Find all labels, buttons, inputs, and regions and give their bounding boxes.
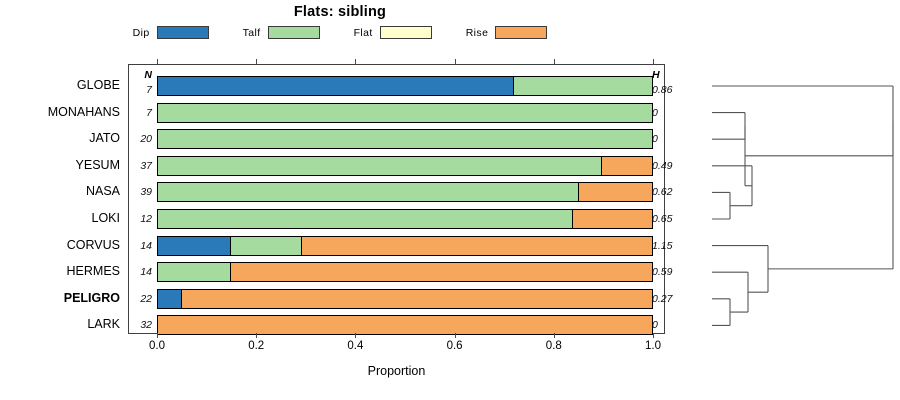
category-label-loki: LOKI — [0, 211, 128, 225]
category-label-yesum: YESUM — [0, 158, 128, 172]
n-column-header: N — [129, 69, 157, 81]
legend-item-flat: Flat — [354, 26, 432, 39]
dendrogram — [690, 56, 900, 346]
legend-item-dip: Dip — [133, 26, 209, 39]
n-value-jato: 20 — [129, 133, 157, 145]
x-axis-tick-labels: 0.00.20.40.60.81.0 — [128, 337, 665, 355]
legend-label: Rise — [466, 27, 489, 39]
legend-item-rise: Rise — [466, 26, 548, 39]
n-value-yesum: 37 — [129, 160, 157, 172]
x-tick-label: 0.4 — [335, 340, 375, 352]
h-value-peligro: 0.27 — [645, 293, 685, 305]
n-value-globe: 7 — [129, 84, 157, 96]
h-value-loki: 0.65 — [645, 213, 685, 225]
h-value-yesum: 0.49 — [645, 160, 685, 172]
category-label-corvus: CORVUS — [0, 238, 128, 252]
legend-item-talf: Talf — [243, 26, 320, 39]
x-tick — [355, 333, 356, 338]
top-tick — [256, 59, 257, 64]
legend-swatch-dip — [157, 26, 209, 39]
h-value-globe: 0.86 — [645, 84, 685, 96]
legend-swatch-rise — [495, 26, 547, 39]
x-tick-label: 1.0 — [633, 340, 673, 352]
n-value-nasa: 39 — [129, 186, 157, 198]
n-column: N772037391214142232 — [129, 64, 157, 334]
n-value-monahans: 7 — [129, 107, 157, 119]
legend-swatch-flat — [380, 26, 432, 39]
top-tick — [554, 59, 555, 64]
h-value-jato: 0 — [645, 133, 685, 145]
h-value-hermes: 0.59 — [645, 266, 685, 278]
n-value-lark: 32 — [129, 319, 157, 331]
category-label-hermes: HERMES — [0, 264, 128, 278]
plot-area — [128, 64, 665, 334]
x-tick — [157, 333, 158, 338]
dendrogram-svg — [690, 56, 900, 346]
category-label-globe: GLOBE — [0, 78, 128, 92]
legend-label: Talf — [243, 27, 261, 39]
category-label-peligro: PELIGRO — [0, 291, 128, 305]
top-tick — [355, 59, 356, 64]
x-tick — [653, 333, 654, 338]
x-tick — [256, 333, 257, 338]
category-labels: GLOBEMONAHANSJATOYESUMNASALOKICORVUSHERM… — [0, 64, 128, 334]
category-label-lark: LARK — [0, 317, 128, 331]
category-label-nasa: NASA — [0, 184, 128, 198]
h-value-monahans: 0 — [645, 107, 685, 119]
x-tick-label: 0.6 — [435, 340, 475, 352]
h-column-header: H — [645, 69, 685, 81]
x-axis-title: Proportion — [128, 364, 665, 378]
page-title: Flats: sibling — [0, 4, 680, 20]
h-value-nasa: 0.62 — [645, 186, 685, 198]
chart-legend: Dip Talf Flat Rise — [0, 26, 680, 39]
x-tick-label: 0.8 — [534, 340, 574, 352]
x-tick-label: 0.2 — [236, 340, 276, 352]
n-value-peligro: 22 — [129, 293, 157, 305]
x-tick — [554, 333, 555, 338]
h-value-corvus: 1.15 — [645, 240, 685, 252]
category-label-monahans: MONAHANS — [0, 105, 128, 119]
legend-swatch-talf — [268, 26, 320, 39]
legend-label: Dip — [133, 27, 150, 39]
top-tick — [157, 59, 158, 64]
n-value-hermes: 14 — [129, 266, 157, 278]
top-tick — [455, 59, 456, 64]
n-value-loki: 12 — [129, 213, 157, 225]
x-tick-label: 0.0 — [137, 340, 177, 352]
n-value-corvus: 14 — [129, 240, 157, 252]
x-tick — [455, 333, 456, 338]
h-value-lark: 0 — [645, 319, 685, 331]
legend-label: Flat — [354, 27, 373, 39]
category-label-jato: JATO — [0, 131, 128, 145]
